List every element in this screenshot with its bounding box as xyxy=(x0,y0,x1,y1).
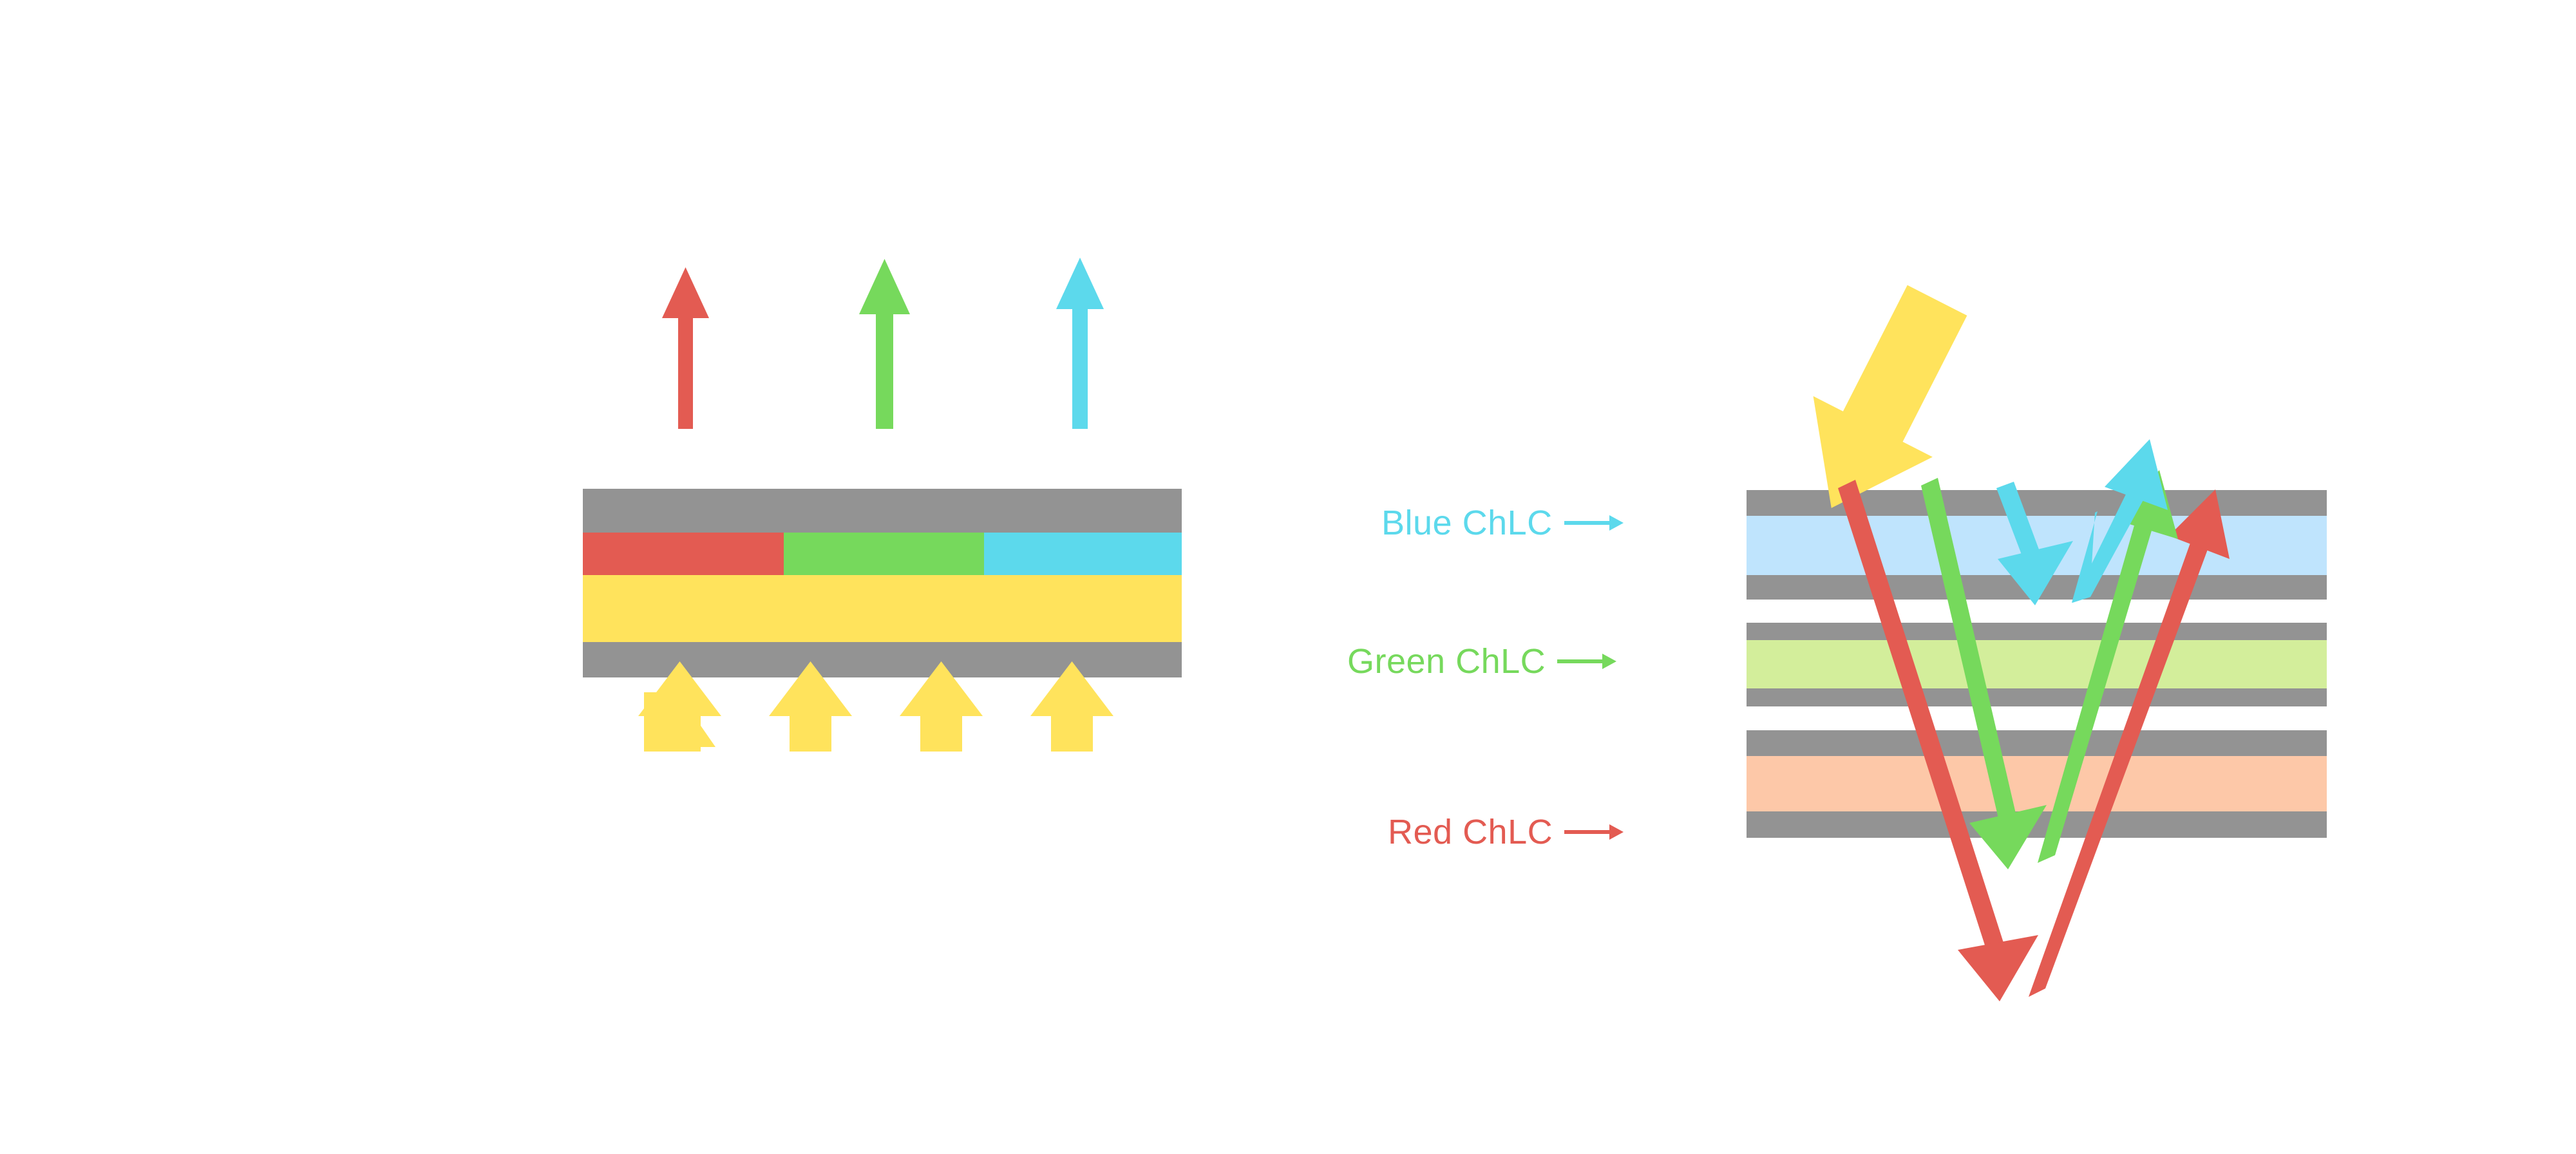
red-chlc-label: Red ChLC xyxy=(1388,815,1624,849)
green-chlc-label-text: Green ChLC xyxy=(1347,644,1546,679)
red-chlc-pointer-arrow-icon xyxy=(1564,830,1624,834)
emissive-stack-panel xyxy=(583,322,1182,837)
backlight-arrows-group xyxy=(583,322,1182,837)
backlight-arrow-2 xyxy=(769,661,852,752)
blue-chlc-label-text: Blue ChLC xyxy=(1381,506,1553,540)
backlight-arrow-4 xyxy=(1030,661,1113,752)
backlight-arrow-3 xyxy=(900,661,983,752)
backlight-arrow-1 xyxy=(638,661,721,752)
light-rays-group xyxy=(1443,270,2363,889)
diagram-canvas: Blue ChLC Green ChLC Red ChLC xyxy=(0,0,2576,1154)
blue-chlc-pointer-arrow-icon xyxy=(1564,521,1624,525)
ambient-light-arrow xyxy=(1772,270,1997,538)
red-chlc-label-text: Red ChLC xyxy=(1388,815,1553,849)
reflective-chlc-stack-panel: Blue ChLC Green ChLC Red ChLC xyxy=(1443,270,2363,889)
green-chlc-pointer-arrow-icon xyxy=(1557,659,1616,663)
green-chlc-label: Green ChLC xyxy=(1347,644,1616,679)
blue-chlc-label: Blue ChLC xyxy=(1381,506,1624,540)
